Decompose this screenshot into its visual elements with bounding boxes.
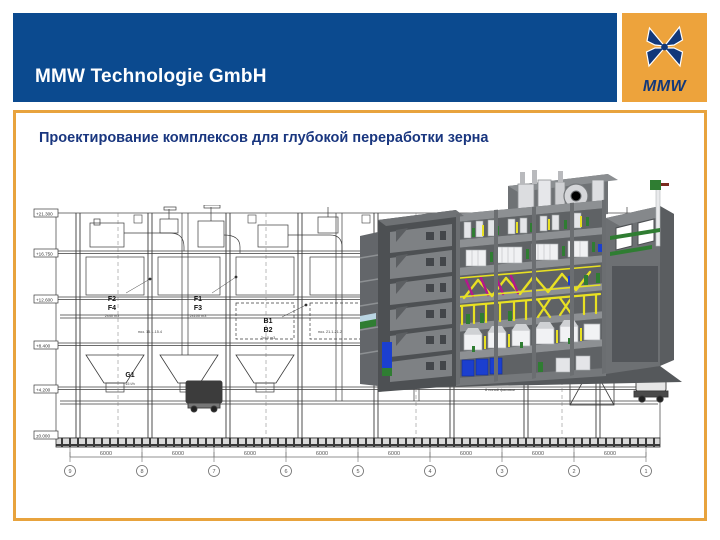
svg-text:7: 7 [212, 469, 215, 475]
slide: MMW Technologie GmbH MMW Проектирование … [0, 0, 720, 540]
plant-3d-render [360, 170, 690, 405]
svg-text:+4.200: +4.200 [36, 388, 51, 393]
svg-text:2x60 m3: 2x60 m3 [261, 336, 276, 340]
page-title: Проектирование комплексов для глубокой п… [39, 130, 489, 146]
svg-text:8: 8 [140, 469, 143, 475]
svg-text:F4: F4 [108, 305, 116, 312]
windmill-logo-icon [622, 19, 707, 77]
svg-text:+8.400: +8.400 [36, 344, 51, 349]
svg-text:поз. 15.1-15.4: поз. 15.1-15.4 [138, 330, 162, 334]
svg-text:+12.600: +12.600 [36, 298, 53, 303]
svg-text:6000: 6000 [532, 451, 544, 457]
svg-text:2x40 m3: 2x40 m3 [105, 314, 120, 318]
svg-text:F1: F1 [194, 296, 202, 303]
logo-text: MMW [622, 78, 707, 96]
svg-text:6000: 6000 [388, 451, 400, 457]
svg-text:+21.300: +21.300 [36, 212, 53, 217]
svg-text:6000: 6000 [244, 451, 256, 457]
svg-text:15 t/h: 15 t/h [125, 382, 135, 386]
svg-text:4: 4 [428, 469, 431, 475]
svg-text:5: 5 [356, 469, 359, 475]
svg-text:±0.000: ±0.000 [36, 434, 50, 439]
svg-text:6000: 6000 [460, 451, 472, 457]
svg-text:6000: 6000 [100, 451, 112, 457]
svg-text:6000: 6000 [604, 451, 616, 457]
svg-text:F3: F3 [194, 305, 202, 312]
svg-text:B2: B2 [264, 327, 273, 334]
svg-text:F2: F2 [108, 296, 116, 303]
svg-text:B1: B1 [264, 318, 273, 325]
company-logo: MMW [622, 13, 707, 102]
header-bar: MMW Technologie GmbH [13, 13, 617, 102]
svg-text:6000: 6000 [172, 451, 184, 457]
svg-text:3: 3 [500, 469, 503, 475]
svg-text:2: 2 [572, 469, 575, 475]
svg-text:+16.750: +16.750 [36, 252, 53, 257]
company-title: MMW Technologie GmbH [35, 66, 267, 88]
svg-text:1: 1 [644, 469, 647, 475]
svg-text:6: 6 [284, 469, 287, 475]
svg-text:2x100 m3: 2x100 m3 [190, 314, 207, 318]
svg-text:поз. 21.1-21.2: поз. 21.1-21.2 [318, 330, 342, 334]
svg-text:9: 9 [68, 469, 71, 475]
content-frame: Проектирование комплексов для глубокой п… [13, 110, 707, 521]
grain-processing-plant-figure: 987 654 321 600060006000 600060006000 60… [30, 165, 690, 510]
svg-text:G1: G1 [125, 372, 134, 379]
svg-text:6000: 6000 [316, 451, 328, 457]
